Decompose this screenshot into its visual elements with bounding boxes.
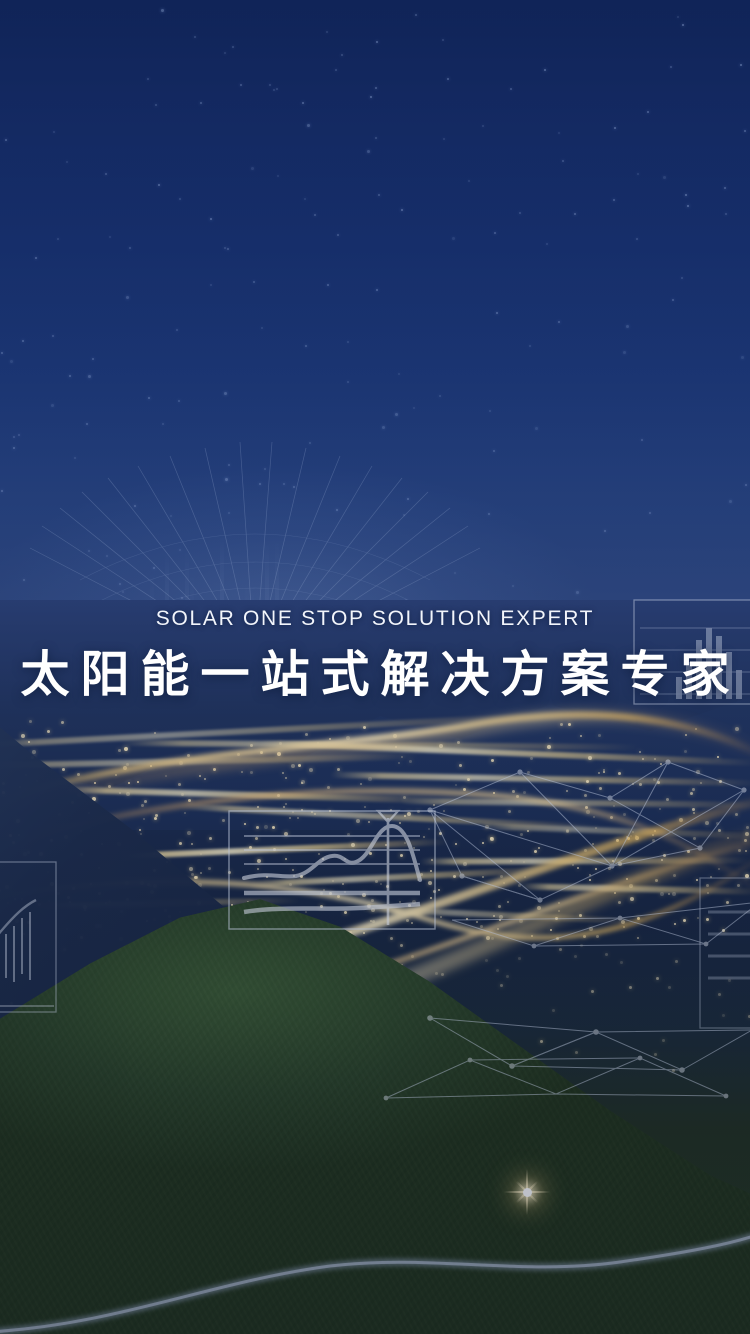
hero-subtitle: SOLAR ONE STOP SOLUTION EXPERT — [0, 604, 750, 634]
hero-banner: SOLAR ONE STOP SOLUTION EXPERT 太阳能一站式解决方… — [0, 0, 750, 1334]
star-field — [0, 0, 750, 620]
landscape — [0, 600, 750, 1334]
hero-copy: SOLAR ONE STOP SOLUTION EXPERT 太阳能一站式解决方… — [0, 604, 750, 704]
winding-road — [0, 1204, 750, 1334]
hero-headline: 太阳能一站式解决方案专家 — [0, 646, 750, 704]
